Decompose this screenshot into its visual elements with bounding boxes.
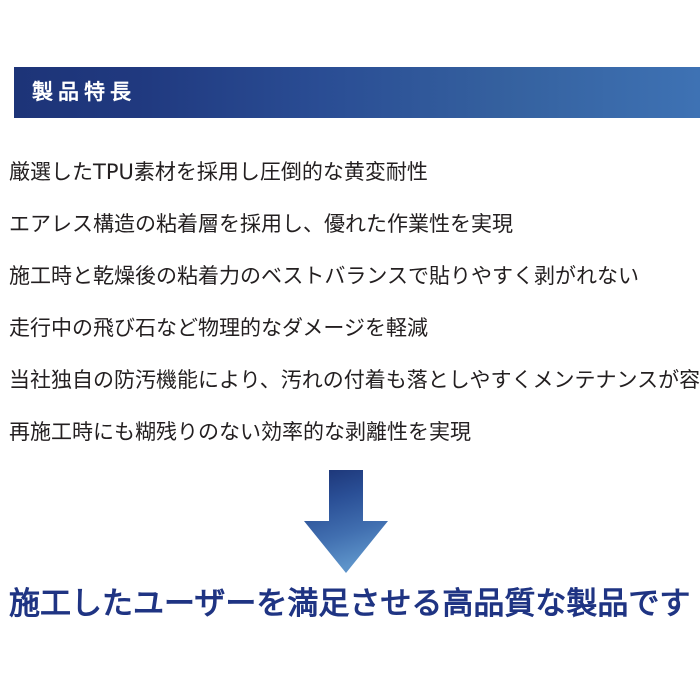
product-features-panel: 製品特長 厳選したTPU素材を採用し圧倒的な黄変耐性 エアレス構造の粘着層を採用…	[0, 0, 700, 700]
feature-item: 当社独自の防汚機能により、汚れの付着も落としやすくメンテナンスが容易	[9, 354, 699, 406]
feature-list: 厳選したTPU素材を採用し圧倒的な黄変耐性 エアレス構造の粘着層を採用し、優れた…	[9, 146, 699, 458]
feature-item: 厳選したTPU素材を採用し圧倒的な黄変耐性	[9, 146, 699, 198]
feature-item: エアレス構造の粘着層を採用し、優れた作業性を実現	[9, 198, 699, 250]
feature-item: 走行中の飛び石など物理的なダメージを軽減	[9, 302, 699, 354]
section-header-title: 製品特長	[32, 82, 136, 103]
section-header-band: 製品特長	[14, 67, 700, 118]
feature-item: 施工時と乾燥後の粘着力のベストバランスで貼りやすく剥がれない	[9, 250, 699, 302]
feature-item: 再施工時にも糊残りのない効率的な剥離性を実現	[9, 406, 699, 458]
arrow-down-icon	[303, 469, 389, 574]
conclusion-headline: 施工したユーザーを満足させる高品質な製品です	[9, 582, 699, 626]
